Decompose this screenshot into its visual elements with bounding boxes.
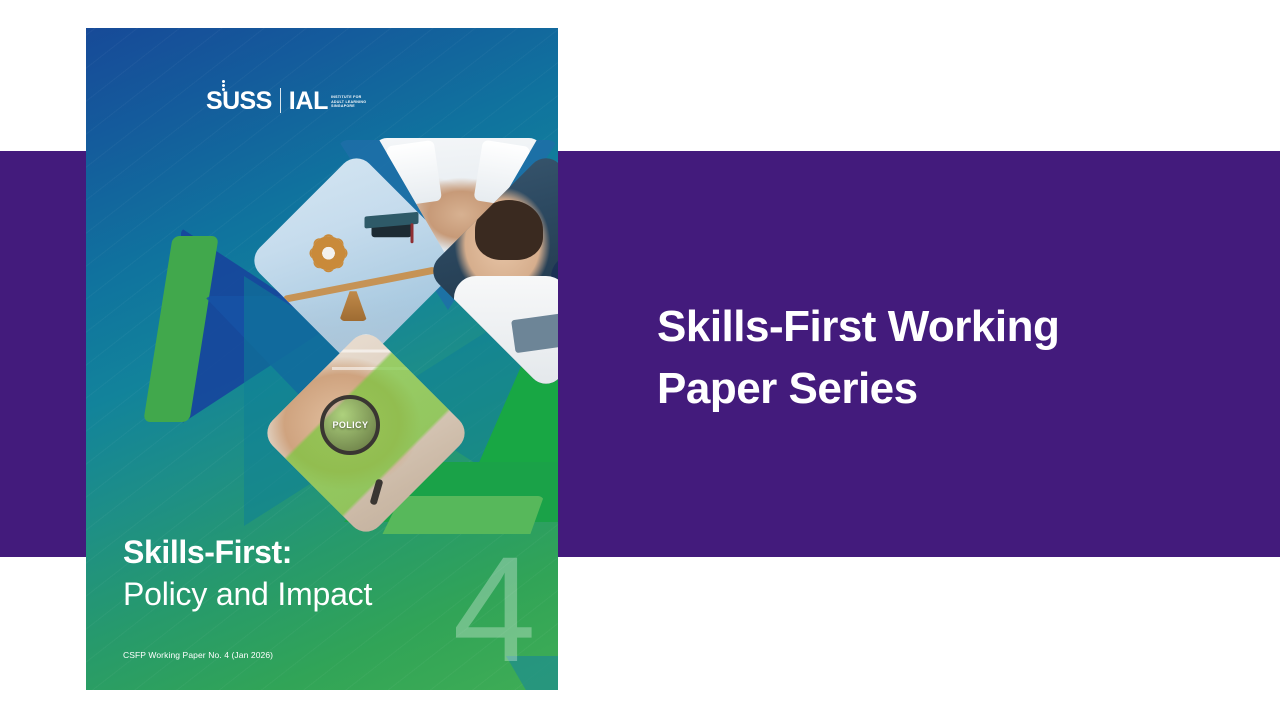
logo-suss-dots-icon (222, 84, 225, 87)
magnifier-icon: POLICY (320, 395, 380, 455)
cover-artwork: POLICY SUSS IAL INSTITUTE FOR ADULT LEAR… (86, 28, 558, 690)
headline-line1: Skills-First Working (657, 296, 1197, 358)
policy-label: POLICY (332, 420, 368, 430)
gear-icon (312, 236, 346, 270)
cover-title-line2: Policy and Impact (123, 573, 523, 615)
headline-line2: Paper Series (657, 358, 1197, 420)
report-cover[interactable]: POLICY SUSS IAL INSTITUTE FOR ADULT LEAR… (86, 28, 558, 690)
suss-ial-logo: SUSS IAL INSTITUTE FOR ADULT LEARNING SI… (206, 88, 366, 114)
cover-caption: CSFP Working Paper No. 4 (Jan 2026) (123, 650, 273, 660)
slide-headline: Skills-First Working Paper Series (657, 296, 1197, 420)
logo-divider (280, 88, 281, 113)
logo-suss-text: SUSS (206, 87, 272, 115)
graduation-cap-icon (371, 221, 411, 237)
logo-suss-wordmark: SUSS (206, 88, 272, 114)
slide-root: POLICY SUSS IAL INSTITUTE FOR ADULT LEAR… (0, 0, 1280, 720)
cover-title-line1: Skills-First: (123, 531, 523, 573)
logo-tagline: INSTITUTE FOR ADULT LEARNING SINGAPORE (331, 95, 366, 109)
logo-ial-text: IAL (289, 88, 328, 114)
cover-title: Skills-First: Policy and Impact (123, 531, 523, 615)
